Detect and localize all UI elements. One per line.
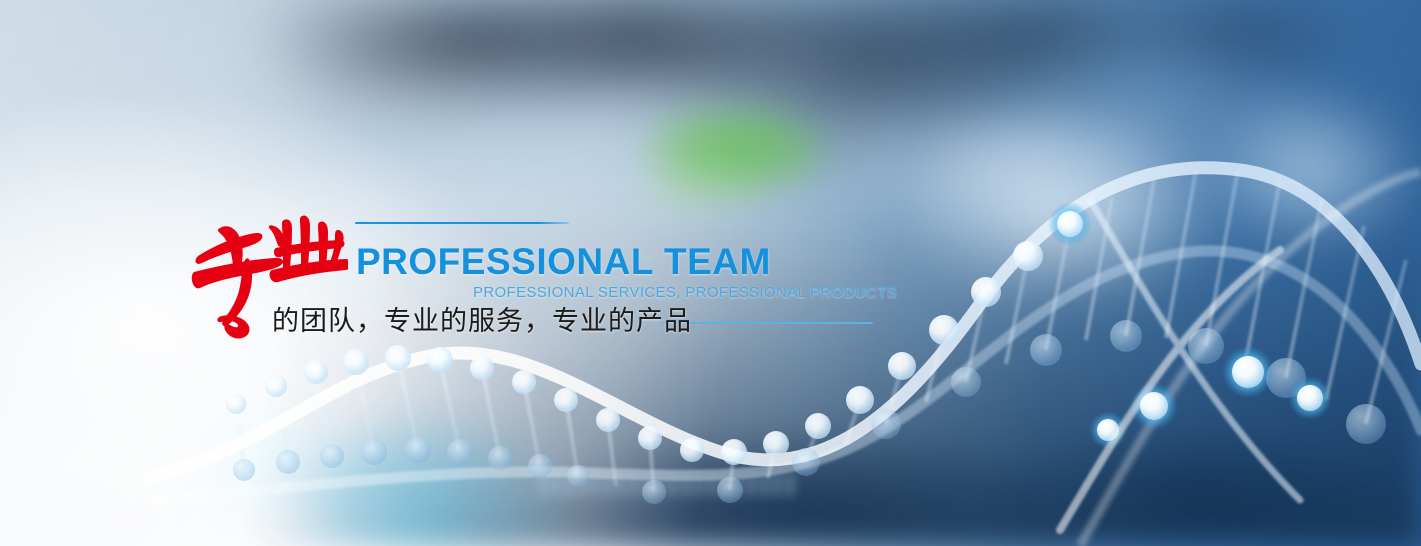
banner-heading: PROFESSIONAL TEAM	[356, 243, 771, 282]
professional-team-banner: PROFESSIONAL TEAM PROFESSIONAL SERVICES,…	[0, 0, 1421, 546]
banner-tagline: 的团队，专业的服务，专业的产品	[272, 306, 692, 338]
banner-subheading: PROFESSIONAL SERVICES, PROFESSIONAL PROD…	[473, 285, 897, 302]
decorative-rule-top	[355, 222, 569, 224]
banner-text-block: PROFESSIONAL TEAM PROFESSIONAL SERVICES,…	[0, 0, 1421, 546]
background-blurred-text	[540, 474, 800, 496]
